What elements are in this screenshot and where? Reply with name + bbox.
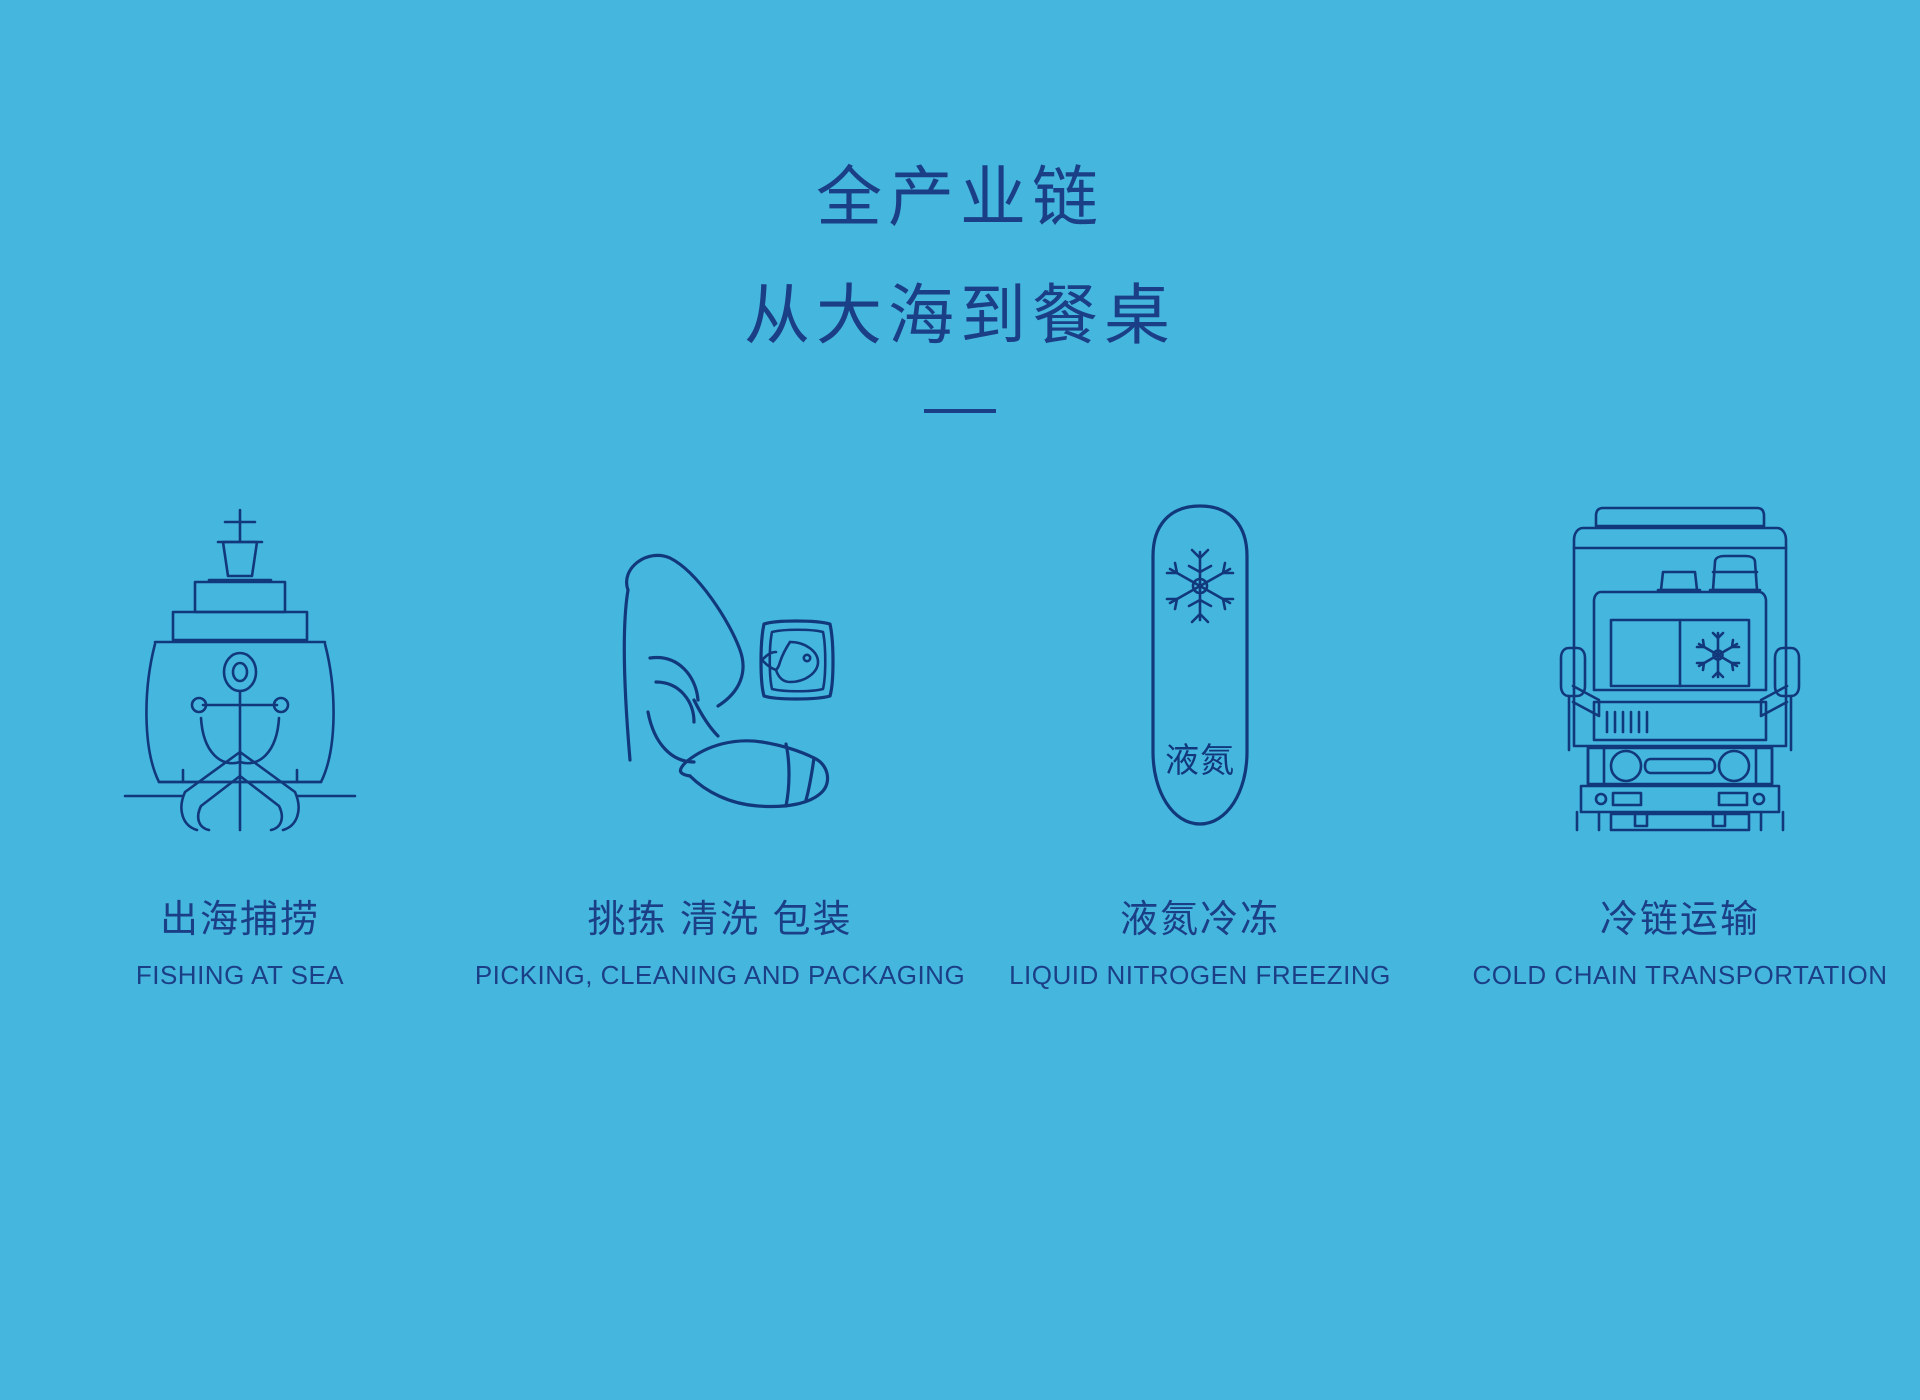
icon-container xyxy=(1555,430,1805,830)
step-liquid-nitrogen-freezing[interactable]: 液氮 液氮冷冻 LIQUID NITROGEN FREEZING xyxy=(960,430,1440,991)
headline-line-2: 从大海到餐桌 xyxy=(0,268,1920,364)
step-labels: 冷链运输 COLD CHAIN TRANSPORTATION xyxy=(1472,898,1887,991)
step-label-en: COLD CHAIN TRANSPORTATION xyxy=(1472,960,1887,991)
hands-fish-package-icon xyxy=(590,530,850,830)
step-labels: 出海捕捞 FISHING AT SEA xyxy=(136,898,344,991)
process-steps: 出海捕捞 FISHING AT SEA xyxy=(0,430,1920,991)
divider-wrapper xyxy=(0,409,1920,413)
step-label-cn: 冷链运输 xyxy=(1472,898,1887,944)
snowflake-icon xyxy=(1697,633,1739,677)
icon-container xyxy=(590,430,850,830)
step-label-en: LIQUID NITROGEN FREEZING xyxy=(1009,960,1391,991)
step-picking-cleaning-packaging[interactable]: 挑拣 清洗 包装 PICKING, CLEANING AND PACKAGING xyxy=(480,430,960,991)
heading-divider xyxy=(924,409,996,413)
icon-container: 液氮 xyxy=(1135,430,1265,830)
snowflake-icon xyxy=(1167,550,1233,622)
step-label-cn: 出海捕捞 xyxy=(136,898,344,944)
step-labels: 液氮冷冻 LIQUID NITROGEN FREEZING xyxy=(1009,898,1391,991)
page-header: 全产业链 从大海到餐桌 xyxy=(0,150,1920,413)
refrigerated-truck-icon xyxy=(1555,500,1805,830)
page-root: 全产业链 从大海到餐桌 xyxy=(0,0,1920,1400)
fishing-boat-anchor-icon xyxy=(125,500,355,830)
step-labels: 挑拣 清洗 包装 PICKING, CLEANING AND PACKAGING xyxy=(475,898,965,991)
icon-container xyxy=(125,430,355,830)
step-label-en: FISHING AT SEA xyxy=(136,960,344,991)
step-cold-chain-transportation[interactable]: 冷链运输 COLD CHAIN TRANSPORTATION xyxy=(1440,430,1920,991)
step-label-cn: 挑拣 清洗 包装 xyxy=(475,898,965,944)
step-label-en: PICKING, CLEANING AND PACKAGING xyxy=(475,960,965,991)
step-label-cn: 液氮冷冻 xyxy=(1009,898,1391,944)
step-fishing-at-sea[interactable]: 出海捕捞 FISHING AT SEA xyxy=(0,430,480,991)
headline-line-1: 全产业链 xyxy=(0,150,1920,246)
liquid-nitrogen-tank-icon: 液氮 xyxy=(1135,500,1265,830)
tank-label: 液氮 xyxy=(1165,742,1235,780)
